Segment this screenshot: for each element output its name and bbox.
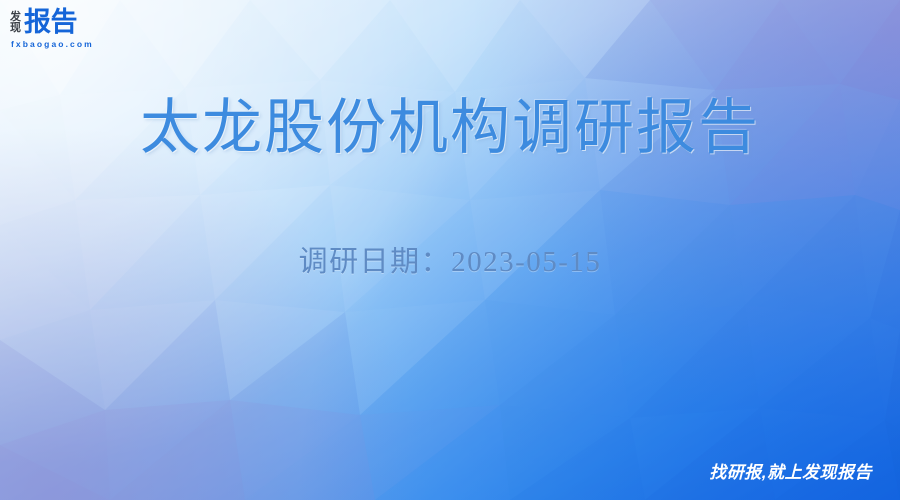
report-cover: 发 现 报告 fxbaogao.com 太龙股份机构调研报告 调研日期：2023… [0,0,900,500]
survey-date-subtitle: 调研日期：2023-05-15 [0,238,900,280]
logo-wordmark-row: 发 现 报告 [10,9,77,36]
logo-stack-line-2: 现 [10,23,21,34]
logo-stacked-characters: 发 现 [10,11,21,34]
site-logo[interactable]: 发 现 报告 fxbaogao.com [10,9,94,49]
footer-slogan: 找研报,就上发现报告 [709,458,872,483]
logo-wordmark: 报告 [24,9,77,36]
logo-domain-text: fxbaogao.com [11,39,94,49]
page-title: 太龙股份机构调研报告 [0,92,900,165]
